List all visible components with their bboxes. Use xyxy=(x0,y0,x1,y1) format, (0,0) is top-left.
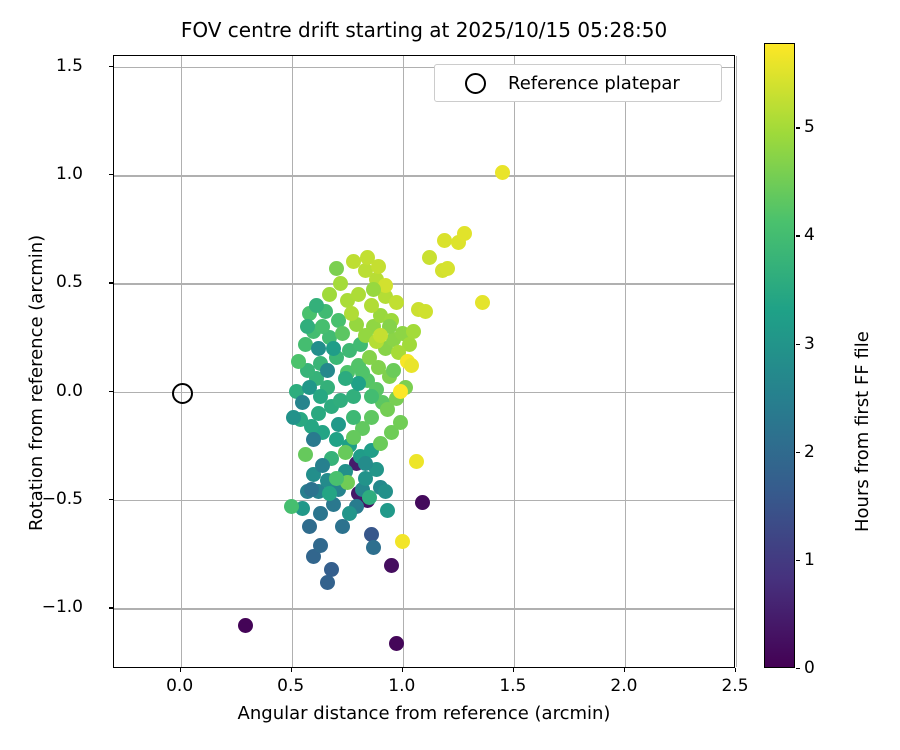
scatter-point xyxy=(409,454,424,469)
x-tick-label: 1.5 xyxy=(499,676,526,696)
scatter-point xyxy=(315,458,330,473)
scatter-point xyxy=(386,363,401,378)
scatter-point xyxy=(358,456,373,471)
colorbar xyxy=(764,43,795,668)
scatter-point xyxy=(389,295,404,310)
scatter-point xyxy=(329,432,344,447)
y-tick-label: 0.5 xyxy=(56,272,83,292)
scatter-point xyxy=(335,519,350,534)
x-tick-label: 2.5 xyxy=(721,676,748,696)
scatter-point xyxy=(331,417,346,432)
colorbar-tick xyxy=(796,452,800,453)
scatter-point xyxy=(373,328,388,343)
reference-platepar-marker xyxy=(172,383,193,404)
scatter-point xyxy=(320,363,335,378)
legend[interactable]: Reference platepar xyxy=(434,64,722,102)
scatter-point xyxy=(406,324,421,339)
scatter-point xyxy=(384,558,399,573)
scatter-point xyxy=(309,298,324,313)
scatter-point xyxy=(393,415,408,430)
scatter-point xyxy=(335,326,350,341)
scatter-point xyxy=(395,534,410,549)
scatter-point xyxy=(404,358,419,373)
scatter-point xyxy=(418,304,433,319)
y-tick xyxy=(109,66,113,67)
colorbar-tick xyxy=(796,127,800,128)
scatter-point xyxy=(298,447,313,462)
y-tick-label: −0.5 xyxy=(42,489,83,509)
figure-scatter-plot: FOV centre drift starting at 2025/10/15 … xyxy=(0,0,900,750)
colorbar-tick-label: 0 xyxy=(804,658,815,678)
y-tick xyxy=(109,391,113,392)
colorbar-tick-label: 4 xyxy=(804,225,815,245)
x-tick-label: 0.5 xyxy=(277,676,304,696)
scatter-point xyxy=(422,250,437,265)
y-tick xyxy=(109,174,113,175)
scatter-point xyxy=(313,538,328,553)
scatter-point xyxy=(440,261,455,276)
scatter-point xyxy=(389,636,404,651)
x-tick xyxy=(513,668,514,672)
scatter-point xyxy=(329,471,344,486)
y-tick-label: 1.0 xyxy=(56,164,83,184)
colorbar-tick xyxy=(796,344,800,345)
scatter-point xyxy=(457,226,472,241)
plot-area xyxy=(113,55,735,668)
scatter-point xyxy=(300,319,315,334)
scatter-point xyxy=(380,503,395,518)
scatter-point xyxy=(313,389,328,404)
scatter-point xyxy=(346,389,361,404)
x-tick-label: 0.0 xyxy=(166,676,193,696)
scatter-point xyxy=(320,575,335,590)
scatter-point xyxy=(342,506,357,521)
colorbar-tick xyxy=(796,668,800,669)
colorbar-tick xyxy=(796,560,800,561)
colorbar-tick xyxy=(796,235,800,236)
colorbar-tick-label: 1 xyxy=(804,550,815,570)
scatter-point xyxy=(495,165,510,180)
scatter-point xyxy=(338,371,353,386)
scatter-point xyxy=(338,445,353,460)
colorbar-tick-label: 3 xyxy=(804,334,815,354)
scatter-point xyxy=(346,430,361,445)
gridline-vertical xyxy=(736,56,737,667)
scatter-point xyxy=(329,261,344,276)
y-tick-label: 0.0 xyxy=(56,381,83,401)
x-tick-label: 2.0 xyxy=(610,676,637,696)
scatter-point xyxy=(378,484,393,499)
x-tick xyxy=(291,668,292,672)
scatter-point xyxy=(366,540,381,555)
scatter-point xyxy=(351,376,366,391)
legend-item-label: Reference platepar xyxy=(508,73,680,94)
x-tick xyxy=(180,668,181,672)
scatter-point xyxy=(362,490,377,505)
y-tick xyxy=(109,499,113,500)
colorbar-label: Hours from first FF file xyxy=(852,331,873,532)
scatter-point xyxy=(415,495,430,510)
scatter-point xyxy=(362,350,377,365)
scatter-point xyxy=(373,436,388,451)
scatter-point xyxy=(475,295,490,310)
scatter-point xyxy=(351,287,366,302)
x-tick xyxy=(735,668,736,672)
scatter-point xyxy=(304,482,319,497)
colorbar-tick-label: 2 xyxy=(804,442,815,462)
y-tick-label: −1.0 xyxy=(42,597,83,617)
scatter-point xyxy=(393,384,408,399)
x-tick xyxy=(624,668,625,672)
scatter-point xyxy=(311,341,326,356)
scatter-point xyxy=(364,298,379,313)
scatter-point xyxy=(302,519,317,534)
y-axis-label: Rotation from reference (arcmin) xyxy=(26,235,47,531)
x-tick xyxy=(402,668,403,672)
scatter-point xyxy=(333,276,348,291)
page-title: FOV centre drift starting at 2025/10/15 … xyxy=(113,18,735,42)
scatter-point xyxy=(238,618,253,633)
y-tick-label: 1.5 xyxy=(56,56,83,76)
scatter-point xyxy=(291,354,306,369)
x-axis-label: Angular distance from reference (arcmin) xyxy=(113,703,735,724)
y-tick xyxy=(109,282,113,283)
colorbar-tick-label: 5 xyxy=(804,117,815,137)
scatter-point xyxy=(364,389,379,404)
scatter-point xyxy=(306,432,321,447)
x-tick-label: 1.0 xyxy=(388,676,415,696)
scatter-points-layer xyxy=(114,56,734,667)
reference-platepar-marker-icon xyxy=(465,73,486,94)
scatter-point xyxy=(322,486,337,501)
y-tick xyxy=(109,607,113,608)
scatter-point xyxy=(371,259,386,274)
scatter-point xyxy=(295,395,310,410)
